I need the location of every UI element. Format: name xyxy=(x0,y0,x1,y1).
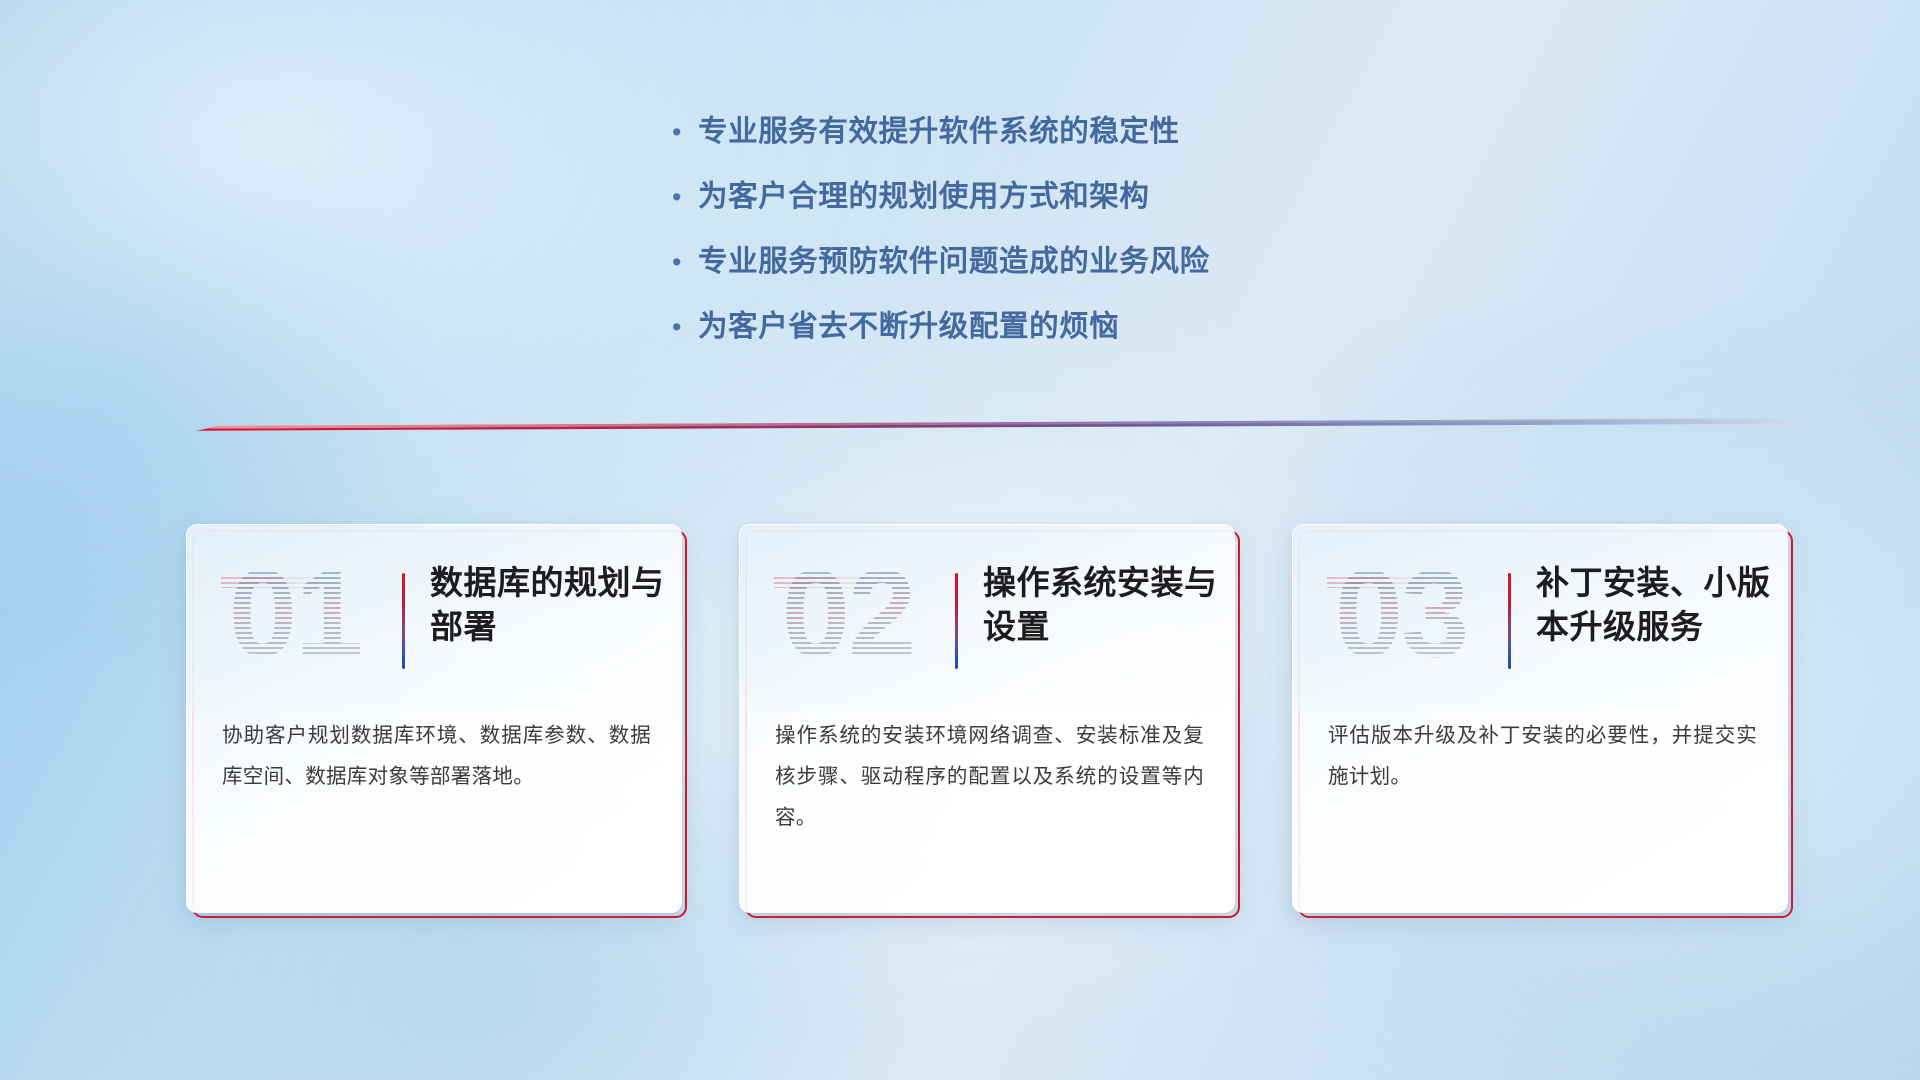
bullet-marker-icon: • xyxy=(672,184,698,211)
card-body-text: 操作系统的安装环境网络调查、安装标准及复核步骤、驱动程序的配置以及系统的设置等内… xyxy=(775,715,1204,838)
card-header: 01 数据库的规划与部署 xyxy=(187,553,681,681)
card-title: 数据库的规划与部署 xyxy=(430,561,668,648)
card-title: 补丁安装、小版本升级服务 xyxy=(1536,561,1774,648)
service-card-01[interactable]: 01 数据库的规划与部署 协助客户规划数据库环境、数据库参数、数据库空间、数据库… xyxy=(186,524,682,913)
bullet-marker-icon: • xyxy=(672,249,698,276)
bullet-item-1: • 专业服务有效提升软件系统的稳定性 xyxy=(672,108,1210,173)
bullet-item-4: • 为客户省去不断升级配置的烦恼 xyxy=(672,303,1210,368)
card-title-accent-bar xyxy=(402,573,405,669)
divider-line xyxy=(182,418,1792,434)
card-surface: 02 操作系统安装与设置 操作系统的安装环境网络调查、安装标准及复核步骤、驱动程… xyxy=(739,524,1235,913)
card-number-watermark: 01 xyxy=(211,547,379,683)
card-number-watermark: 03 xyxy=(1317,547,1485,683)
bullet-text: 专业服务有效提升软件系统的稳定性 xyxy=(698,108,1180,150)
service-card-02[interactable]: 02 操作系统安装与设置 操作系统的安装环境网络调查、安装标准及复核步骤、驱动程… xyxy=(739,524,1235,913)
card-body-text: 评估版本升级及补丁安装的必要性，并提交实施计划。 xyxy=(1328,715,1757,797)
section-divider xyxy=(182,420,1792,442)
service-card-03[interactable]: 03 补丁安装、小版本升级服务 评估版本升级及补丁安装的必要性，并提交实施计划。 xyxy=(1292,524,1788,913)
bullet-item-2: • 为客户合理的规划使用方式和架构 xyxy=(672,173,1210,238)
card-surface: 01 数据库的规划与部署 协助客户规划数据库环境、数据库参数、数据库空间、数据库… xyxy=(186,524,682,913)
card-number-watermark: 02 xyxy=(764,547,932,683)
bullet-item-3: • 专业服务预防软件问题造成的业务风险 xyxy=(672,238,1210,303)
benefits-bullet-list: • 专业服务有效提升软件系统的稳定性 • 为客户合理的规划使用方式和架构 • 专… xyxy=(672,108,1210,368)
card-body-text: 协助客户规划数据库环境、数据库参数、数据库空间、数据库对象等部署落地。 xyxy=(222,715,651,797)
service-card-list: 01 数据库的规划与部署 协助客户规划数据库环境、数据库参数、数据库空间、数据库… xyxy=(186,524,1788,913)
card-header: 02 操作系统安装与设置 xyxy=(740,553,1234,681)
card-title-accent-bar xyxy=(1508,573,1511,669)
bullet-text: 为客户合理的规划使用方式和架构 xyxy=(698,173,1150,215)
bullet-text: 专业服务预防软件问题造成的业务风险 xyxy=(698,238,1210,280)
bullet-text: 为客户省去不断升级配置的烦恼 xyxy=(698,303,1119,345)
card-surface: 03 补丁安装、小版本升级服务 评估版本升级及补丁安装的必要性，并提交实施计划。 xyxy=(1292,524,1788,913)
bullet-marker-icon: • xyxy=(672,314,698,341)
card-title: 操作系统安装与设置 xyxy=(983,561,1221,648)
card-header: 03 补丁安装、小版本升级服务 xyxy=(1293,553,1787,681)
card-title-accent-bar xyxy=(955,573,958,669)
bullet-marker-icon: • xyxy=(672,119,698,146)
